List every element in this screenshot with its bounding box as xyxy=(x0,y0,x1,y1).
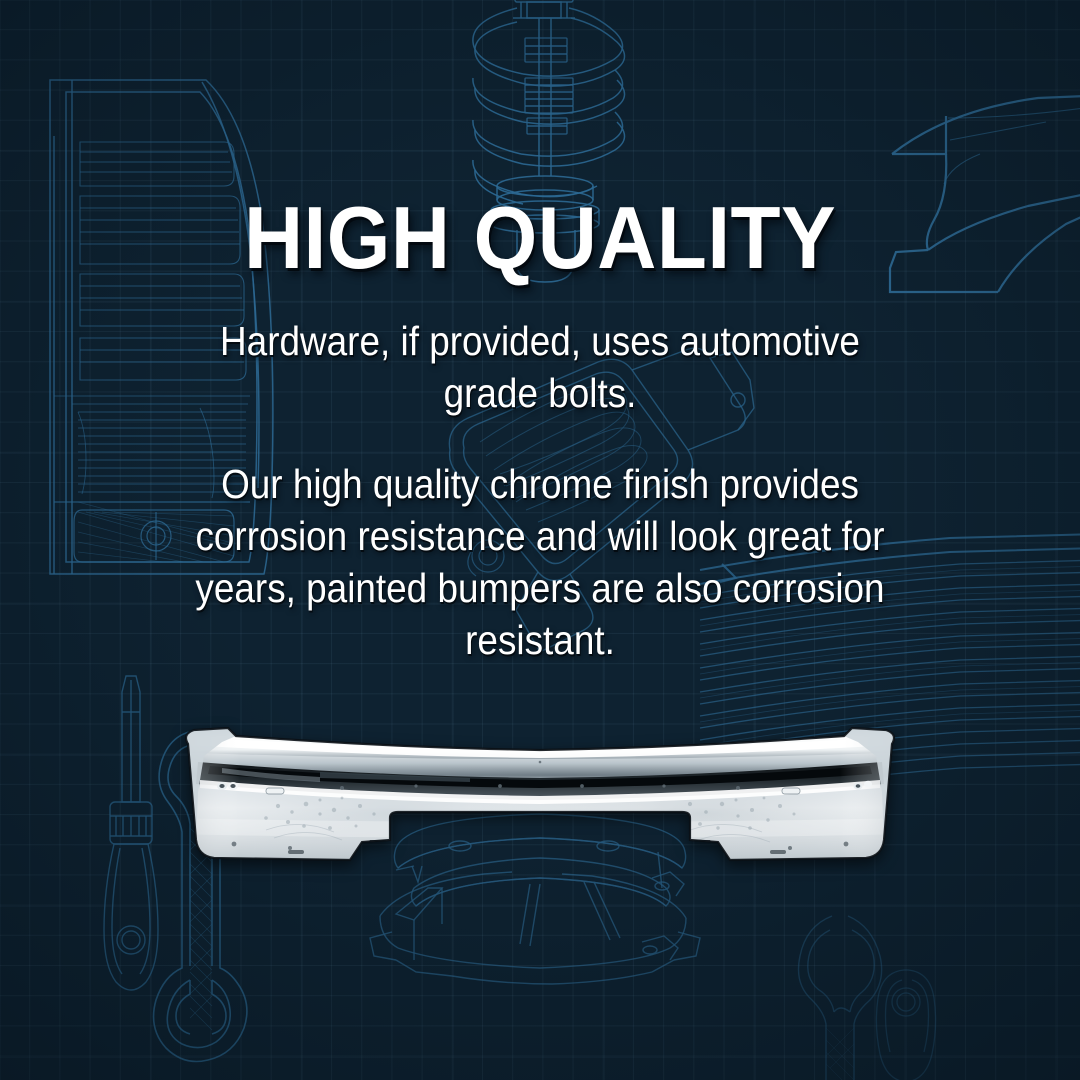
promo-banner: HIGH QUALITY Hardware, if provided, uses… xyxy=(0,0,1080,1080)
wrench-secondary-wireframe-icon xyxy=(790,912,890,1080)
page-title: HIGH QUALITY xyxy=(38,0,1042,280)
body-paragraph-1: Hardware, if provided, uses automotive g… xyxy=(198,280,882,419)
ratchet-wireframe-icon xyxy=(872,968,942,1080)
body-paragraph-2: Our high quality chrome finish provides … xyxy=(180,420,900,666)
screwdriver-wireframe-icon xyxy=(96,672,166,1002)
copy-block: HIGH QUALITY Hardware, if provided, uses… xyxy=(0,0,1080,666)
chrome-bumper-product-image xyxy=(170,722,910,870)
